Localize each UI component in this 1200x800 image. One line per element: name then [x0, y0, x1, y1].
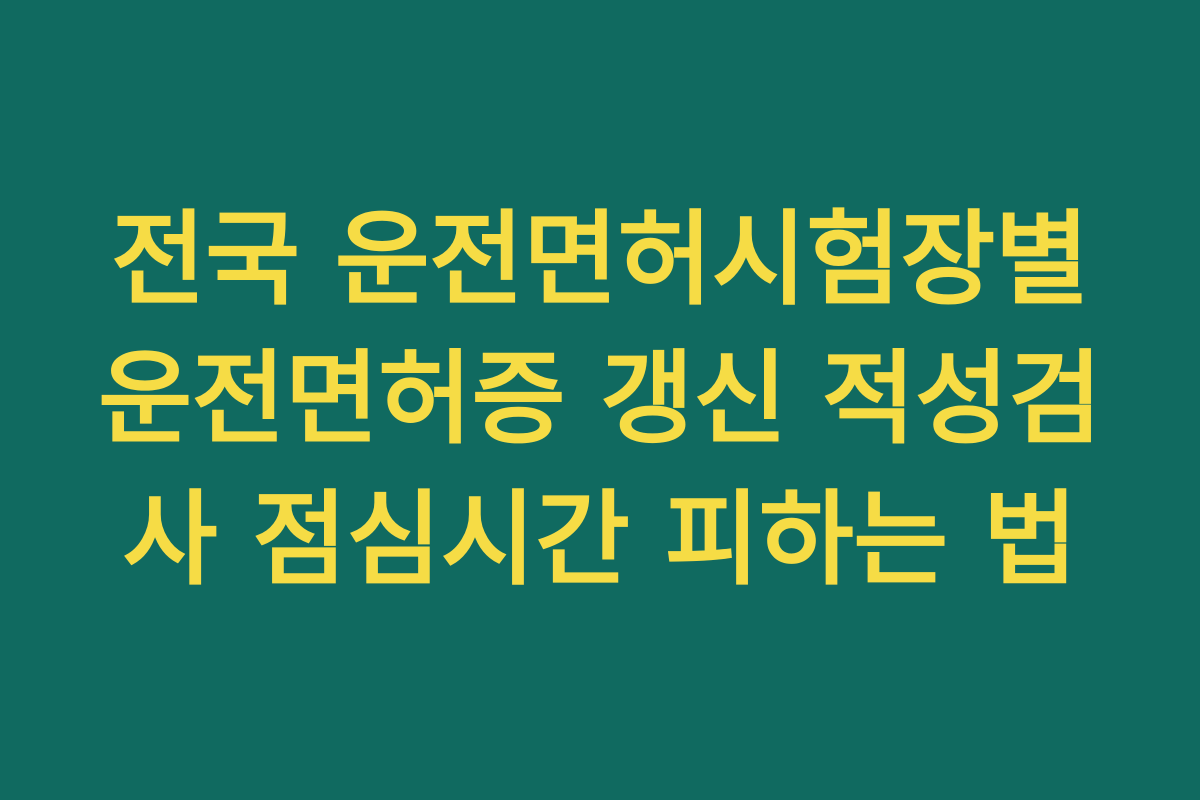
headline-line-1: 전국 운전면허시험장별: [95, 190, 1105, 330]
headline-block: 전국 운전면허시험장별 운전면허증 갱신 적성검 사 점심시간 피하는 법: [95, 190, 1105, 610]
headline-line-3: 사 점심시간 피하는 법: [95, 470, 1105, 610]
thumbnail-card: 전국 운전면허시험장별 운전면허증 갱신 적성검 사 점심시간 피하는 법: [0, 0, 1200, 800]
headline-line-2: 운전면허증 갱신 적성검: [95, 330, 1105, 470]
